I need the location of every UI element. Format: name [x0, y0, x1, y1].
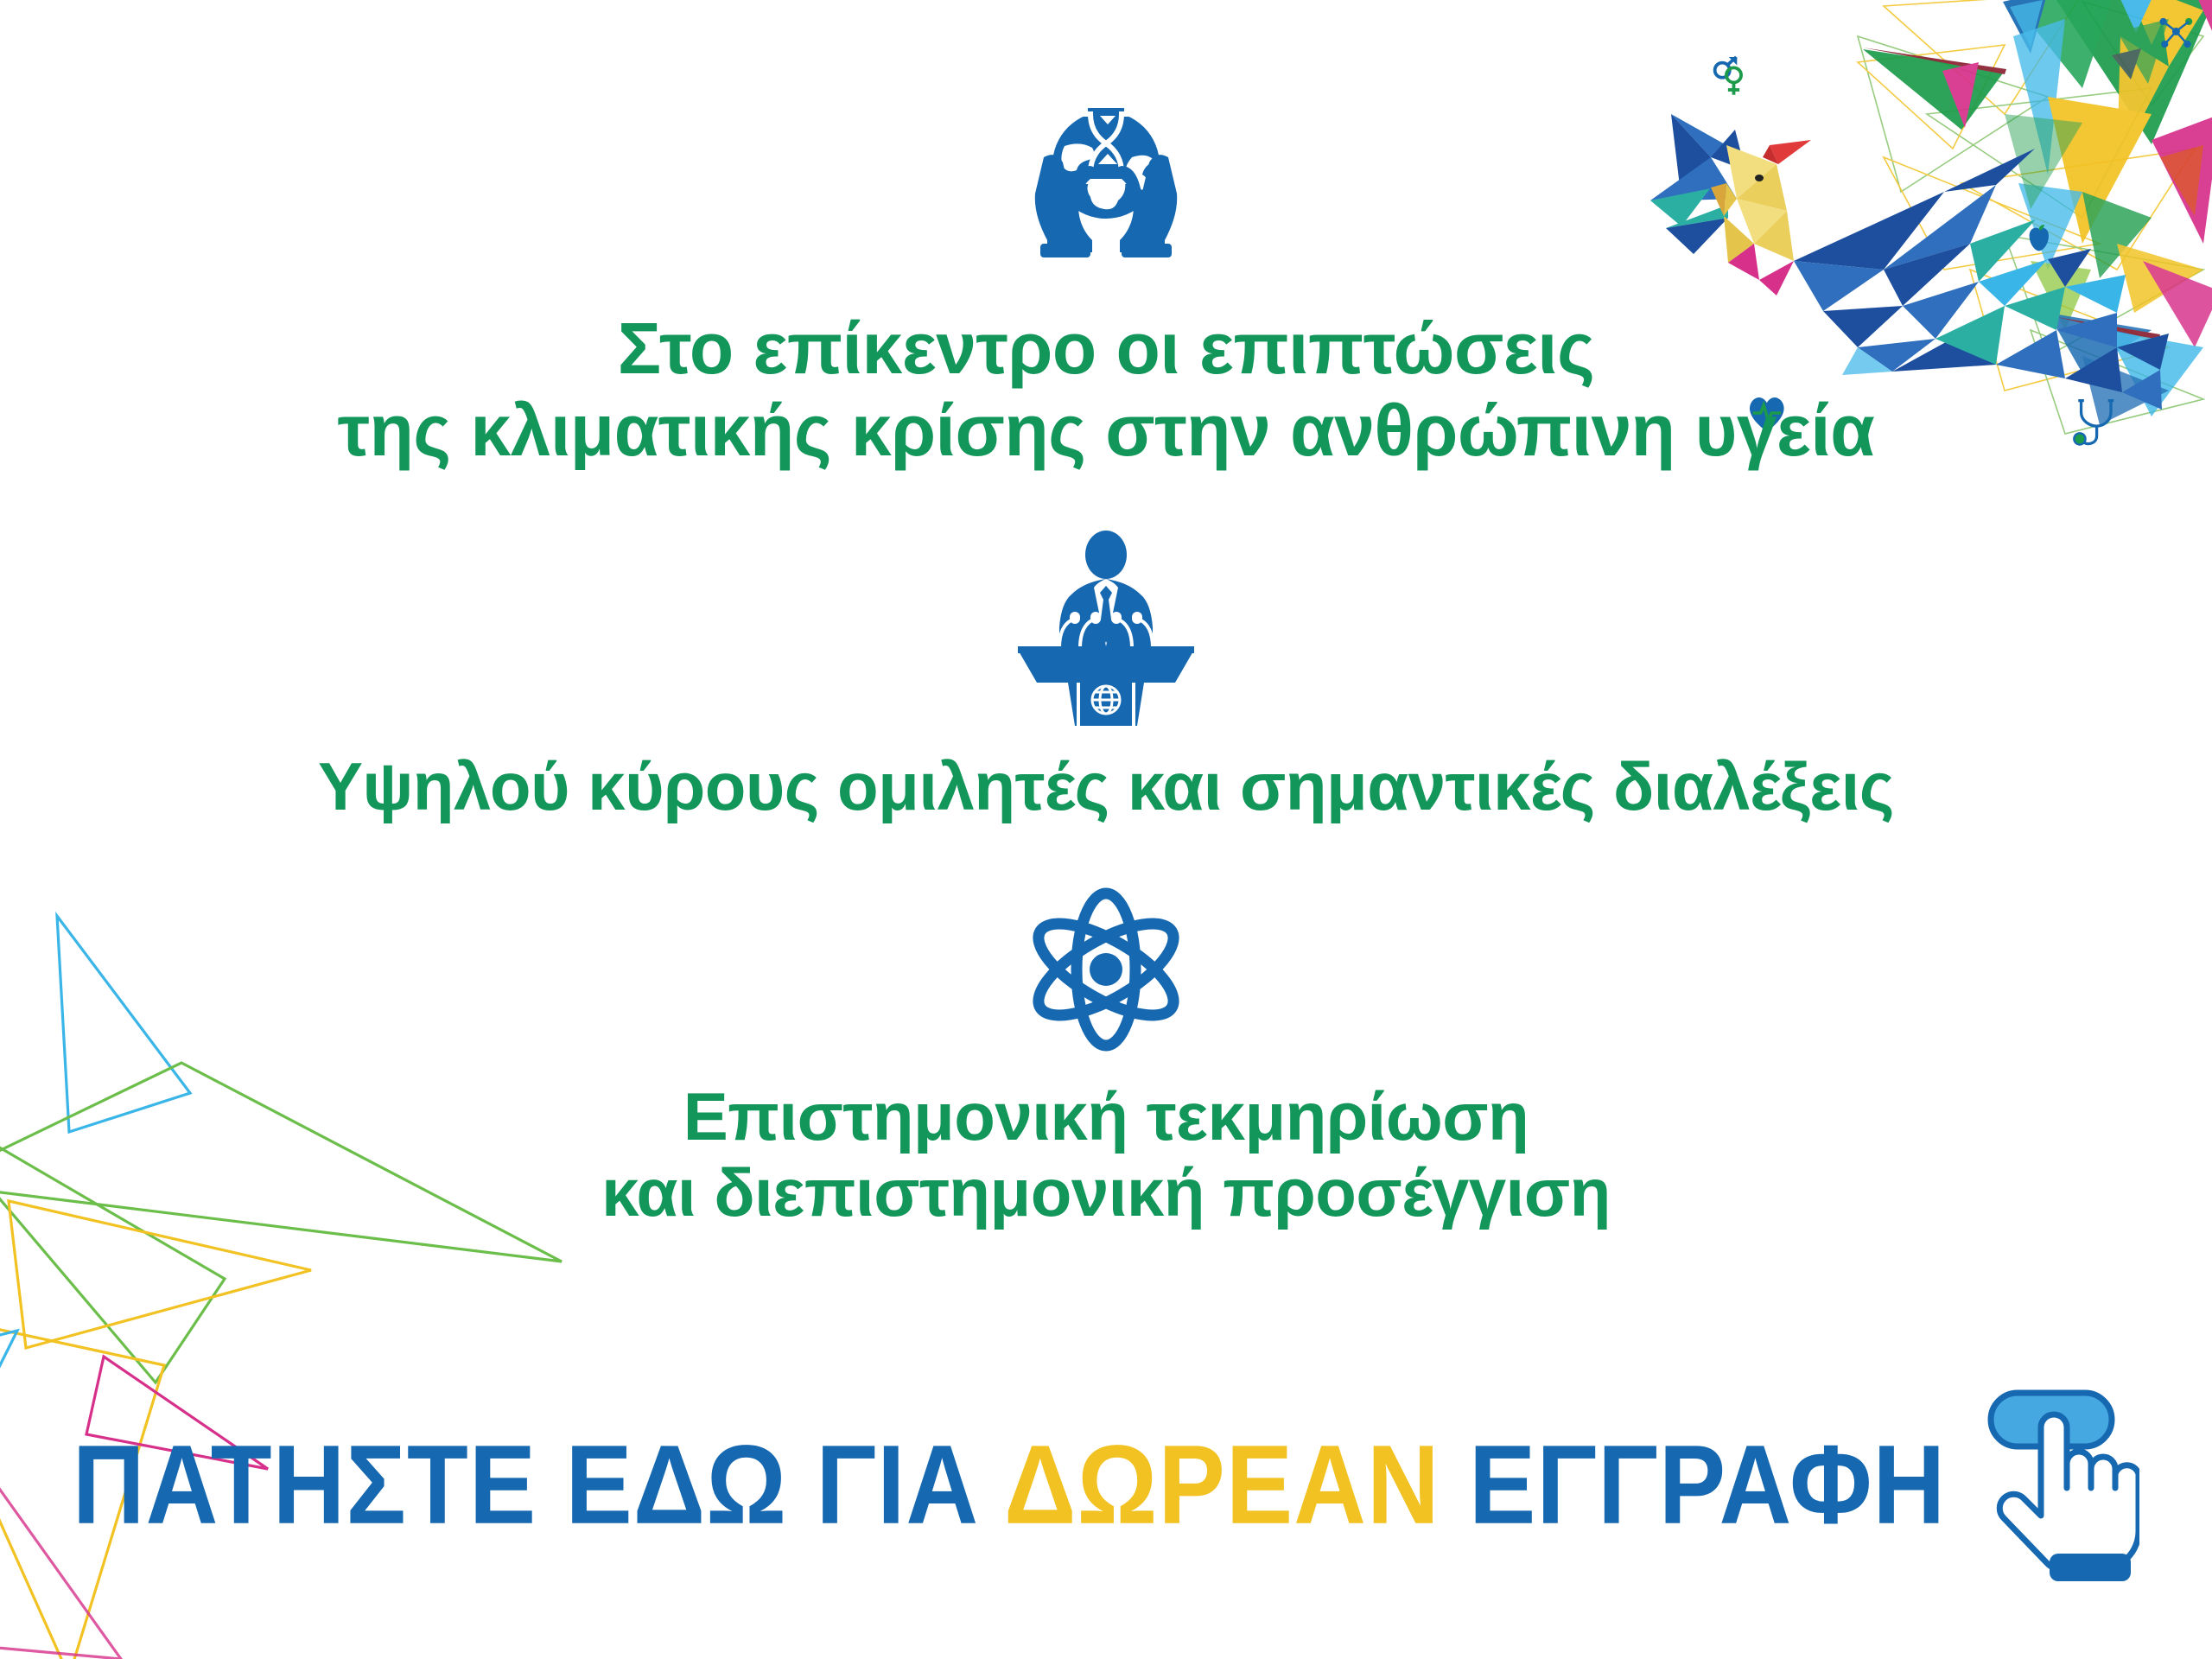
heading-2-line-1: Υψηλού κύρους ομιλητές και σημαντικές δι…: [173, 748, 2039, 824]
hands-holding-globe-hourglass-icon: [1002, 74, 1210, 282]
speaker-podium-icon: [1011, 529, 1201, 728]
section-icon-3: [0, 883, 2212, 1056]
poster-canvas: Στο επίκεντρο οι επιπτώσεις της κλιματικ…: [0, 0, 2212, 1659]
heading-1-line-2: της κλιματικής κρίσης στην ανθρώπινη υγε…: [173, 390, 2039, 472]
heading-speakers-lectures: Υψηλού κύρους ομιλητές και σημαντικές δι…: [0, 748, 2212, 824]
atom-icon: [1015, 883, 1197, 1056]
cta-prefix: ΠΑΤΗΣΤΕ ΕΔΩ ΓΙΑ: [73, 1421, 1004, 1548]
heading-1-line-1: Στο επίκεντρο οι επιπτώσεις: [173, 308, 2039, 390]
cta-label[interactable]: ΠΑΤΗΣΤΕ ΕΔΩ ΓΙΑ ΔΩΡΕΑΝ ΕΓΓΡΑΦΗ: [73, 1428, 1946, 1541]
hand-press-button-icon[interactable]: [1975, 1382, 2139, 1586]
section-icon-2: [0, 529, 2212, 728]
register-cta[interactable]: ΠΑΤΗΣΤΕ ΕΔΩ ΓΙΑ ΔΩΡΕΑΝ ΕΓΓΡΑΦΗ: [0, 1382, 2212, 1586]
cta-highlight: ΔΩΡΕΑΝ: [1004, 1421, 1440, 1548]
heading-climate-impacts: Στο επίκεντρο οι επιπτώσεις της κλιματικ…: [0, 308, 2212, 472]
section-icon-1: [0, 74, 2212, 282]
cta-suffix: ΕΓΓΡΑΦΗ: [1440, 1421, 1946, 1548]
heading-3-line-1: Επιστημονική τεκμηρίωση: [173, 1078, 2039, 1154]
molecule-icon: [2160, 18, 2193, 48]
heading-scientific-evidence: Επιστημονική τεκμηρίωση και διεπιστημονι…: [0, 1078, 2212, 1230]
heading-3-line-2: και διεπιστημονική προσέγγιση: [173, 1154, 2039, 1230]
